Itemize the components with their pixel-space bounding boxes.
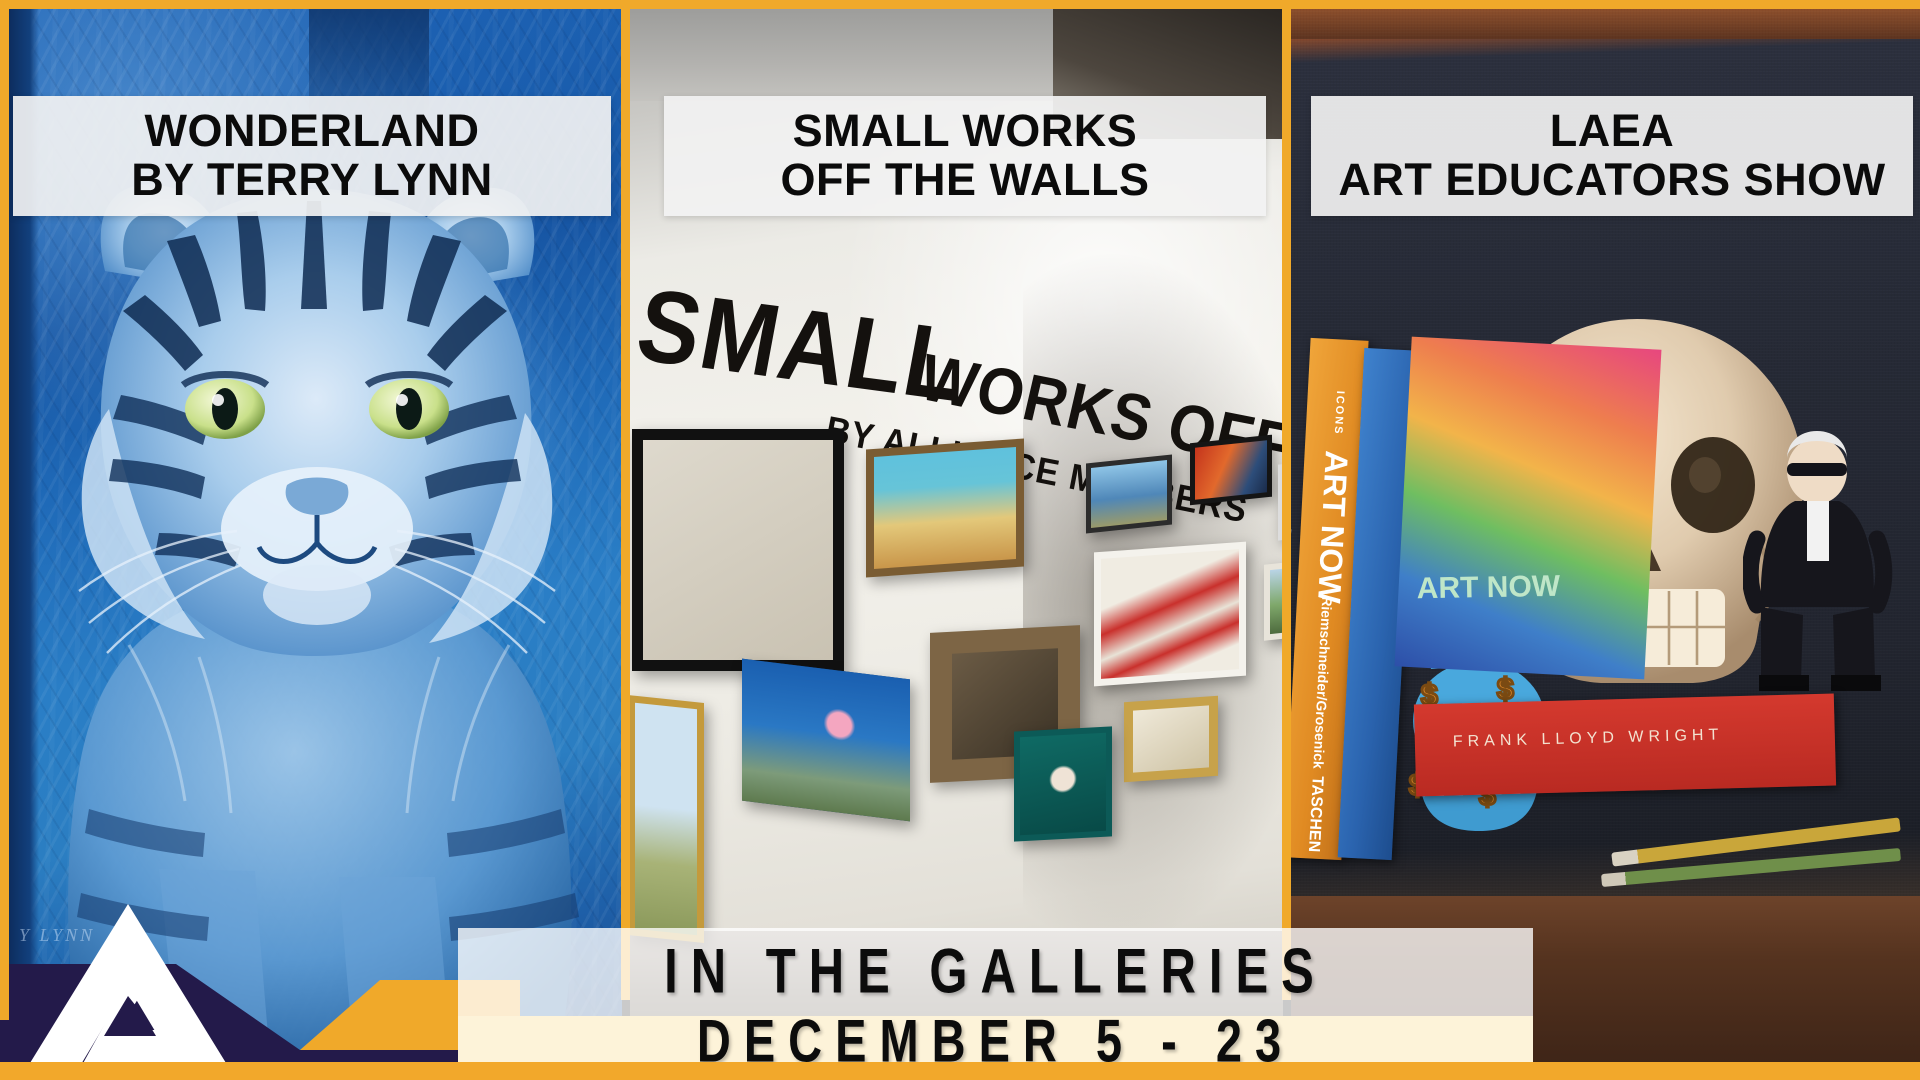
artwork-beach-scene [866, 438, 1024, 577]
alliance-a-logo [0, 900, 520, 1080]
panel-2-title-line2: OFF THE WALLS [781, 156, 1150, 205]
panel-1-title-line2: BY TERRY LYNN [131, 156, 493, 205]
panel-3-title-line2: ART EDUCATORS SHOW [1338, 156, 1885, 205]
artwork-teal-figure [1014, 726, 1112, 841]
artwork-abstract-red [1190, 435, 1272, 506]
bottom-banner-headline-row: IN THE GALLERIES [458, 928, 1533, 1016]
artwork-landscape-right [1264, 557, 1283, 641]
panel-divider-1 [621, 0, 630, 1000]
book-art-now-cover: ART NOW [1395, 337, 1662, 680]
panel-divider-2 [1282, 0, 1291, 1000]
panel-3-title-banner: LAEA ART EDUCATORS SHOW [1311, 96, 1913, 216]
book-art-now-icons: ICONS [1332, 390, 1346, 435]
panel-1-title-banner: WONDERLAND BY TERRY LYNN [13, 96, 611, 216]
book-frank-lloyd-wright: FRANK LLOYD WRIGHT [1414, 694, 1836, 797]
artwork-waterlily [742, 659, 910, 822]
artwork-charcoal-portrait [632, 429, 844, 671]
gold-top-border [0, 0, 1920, 9]
panel-3-title-line1: LAEA [1550, 107, 1675, 156]
gold-left-border [0, 0, 9, 1020]
artwork-small-seascape [1086, 454, 1172, 533]
gold-bottom-border [0, 1062, 1920, 1080]
poster-canvas: Y LYNN SMALL WORKS OFF THE WALLS BY ALLI… [0, 0, 1920, 1080]
panel-1-title-line1: WONDERLAND [145, 107, 480, 156]
panel-2-title-line1: SMALL WORKS [793, 107, 1138, 156]
bottom-banner-headline: IN THE GALLERIES [664, 936, 1327, 1008]
bottom-banner: IN THE GALLERIES DECEMBER 5 - 23 [458, 928, 1533, 1073]
artwork-gold-small-frame [1124, 696, 1218, 783]
artwork-figure-collage [1094, 542, 1246, 687]
panel-2-title-banner: SMALL WORKS OFF THE WALLS [664, 96, 1266, 216]
artwork-gold-frame-landscape [630, 695, 704, 943]
seated-figure-illustration [1743, 429, 1920, 719]
book-flw-title: FRANK LLOYD WRIGHT [1453, 726, 1724, 751]
